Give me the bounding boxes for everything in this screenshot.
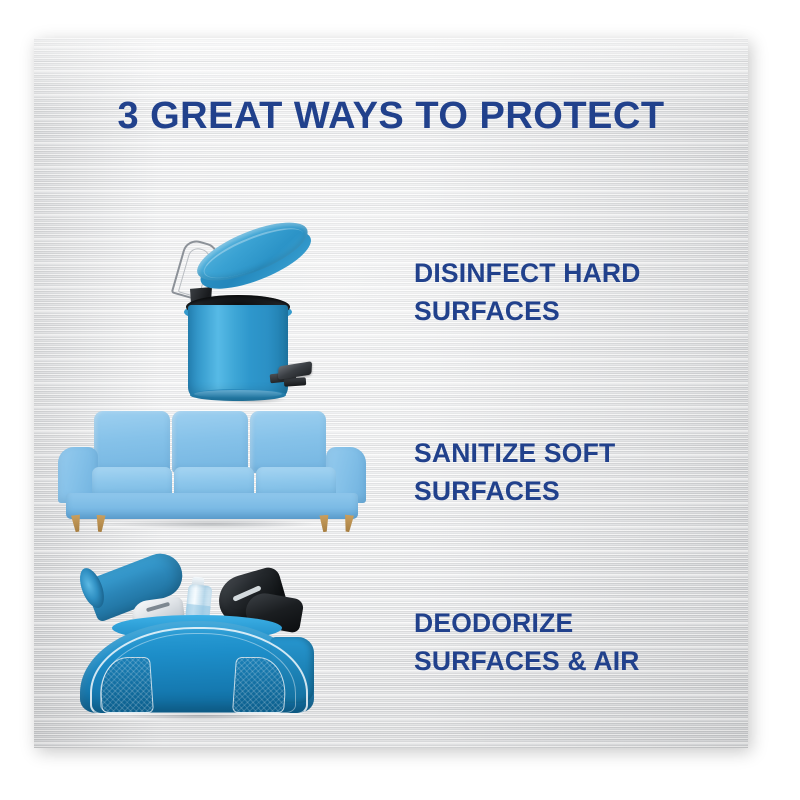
sofa-illustration xyxy=(34,383,412,563)
sofa-back-cushion-1 xyxy=(94,411,170,473)
page-title: 3 GREAT WAYS TO PROTECT xyxy=(34,95,748,138)
caption-disinfect: DISINFECT HARD SURFACES xyxy=(412,255,748,330)
caption-deodorize: DEODORIZE SURFACES & AIR xyxy=(412,605,748,680)
infographic-stage: 3 GREAT WAYS TO PROTECT xyxy=(0,0,800,800)
sofa-base xyxy=(66,493,358,519)
caption-line-2: SURFACES xyxy=(414,473,748,511)
trash-can-illustration xyxy=(34,178,412,408)
benefit-row-disinfect: DISINFECT HARD SURFACES xyxy=(34,178,748,408)
sofa-ground-shadow xyxy=(70,517,352,531)
caption-line-1: DISINFECT HARD xyxy=(414,255,748,293)
sofa-icon xyxy=(52,405,372,535)
brushed-metal-panel: 3 GREAT WAYS TO PROTECT xyxy=(34,38,748,748)
duffel-bag-illustration xyxy=(34,543,412,743)
bin-open-lid xyxy=(190,211,320,305)
caption-sanitize: SANITIZE SOFT SURFACES xyxy=(412,435,748,510)
duffel-bag-icon xyxy=(74,561,324,731)
caption-line-2: SURFACES & AIR xyxy=(414,643,748,681)
caption-line-1: SANITIZE SOFT xyxy=(414,435,748,473)
benefit-row-sanitize: SANITIZE SOFT SURFACES xyxy=(34,383,748,563)
caption-line-1: DEODORIZE xyxy=(414,605,748,643)
caption-line-2: SURFACES xyxy=(414,293,748,331)
sofa-back-cushion-2 xyxy=(172,411,248,473)
step-trash-can-icon xyxy=(144,233,324,408)
benefit-row-deodorize: DEODORIZE SURFACES & AIR xyxy=(34,543,748,743)
sofa-back-cushion-3 xyxy=(250,411,326,473)
